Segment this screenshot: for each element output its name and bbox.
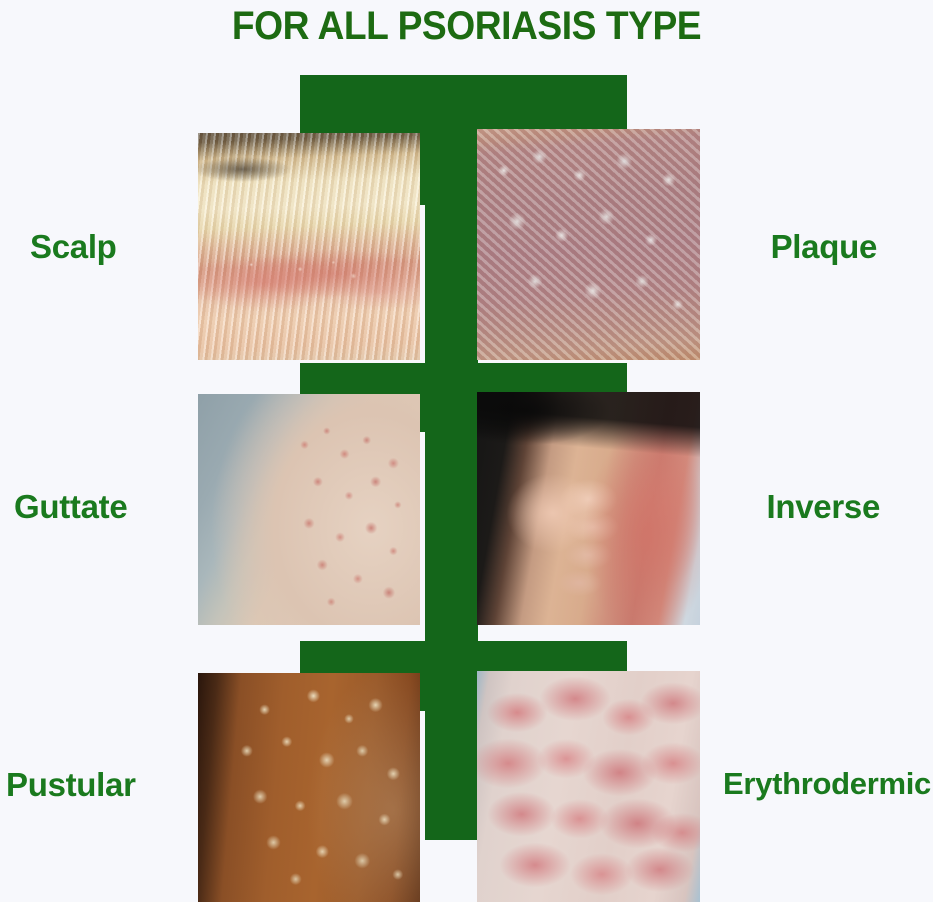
psoriasis-types-poster: FOR ALL PSORIASIS TYPE Scalp Plaque Gutt… <box>0 0 933 902</box>
label-plaque: Plaque <box>771 228 877 266</box>
erythrodermic-psoriasis-image <box>477 671 700 902</box>
label-scalp: Scalp <box>30 228 117 266</box>
green-vertical-bar <box>425 75 478 840</box>
inverse-psoriasis-image <box>477 392 700 625</box>
photo-pustular <box>198 673 420 902</box>
label-guttate: Guttate <box>14 488 127 526</box>
label-pustular: Pustular <box>6 766 136 804</box>
photo-plaque <box>477 129 700 360</box>
guttate-psoriasis-image <box>198 394 420 625</box>
page-title: FOR ALL PSORIASIS TYPE <box>33 4 901 49</box>
label-erythrodermic: Erythrodermic <box>723 766 931 802</box>
photo-guttate <box>198 394 420 625</box>
pustular-psoriasis-image <box>198 673 420 902</box>
plaque-psoriasis-image <box>477 129 700 360</box>
scalp-psoriasis-image <box>198 133 420 360</box>
photo-inverse <box>477 392 700 625</box>
label-inverse: Inverse <box>767 488 880 526</box>
photo-scalp <box>198 133 420 360</box>
photo-erythrodermic <box>477 671 700 902</box>
